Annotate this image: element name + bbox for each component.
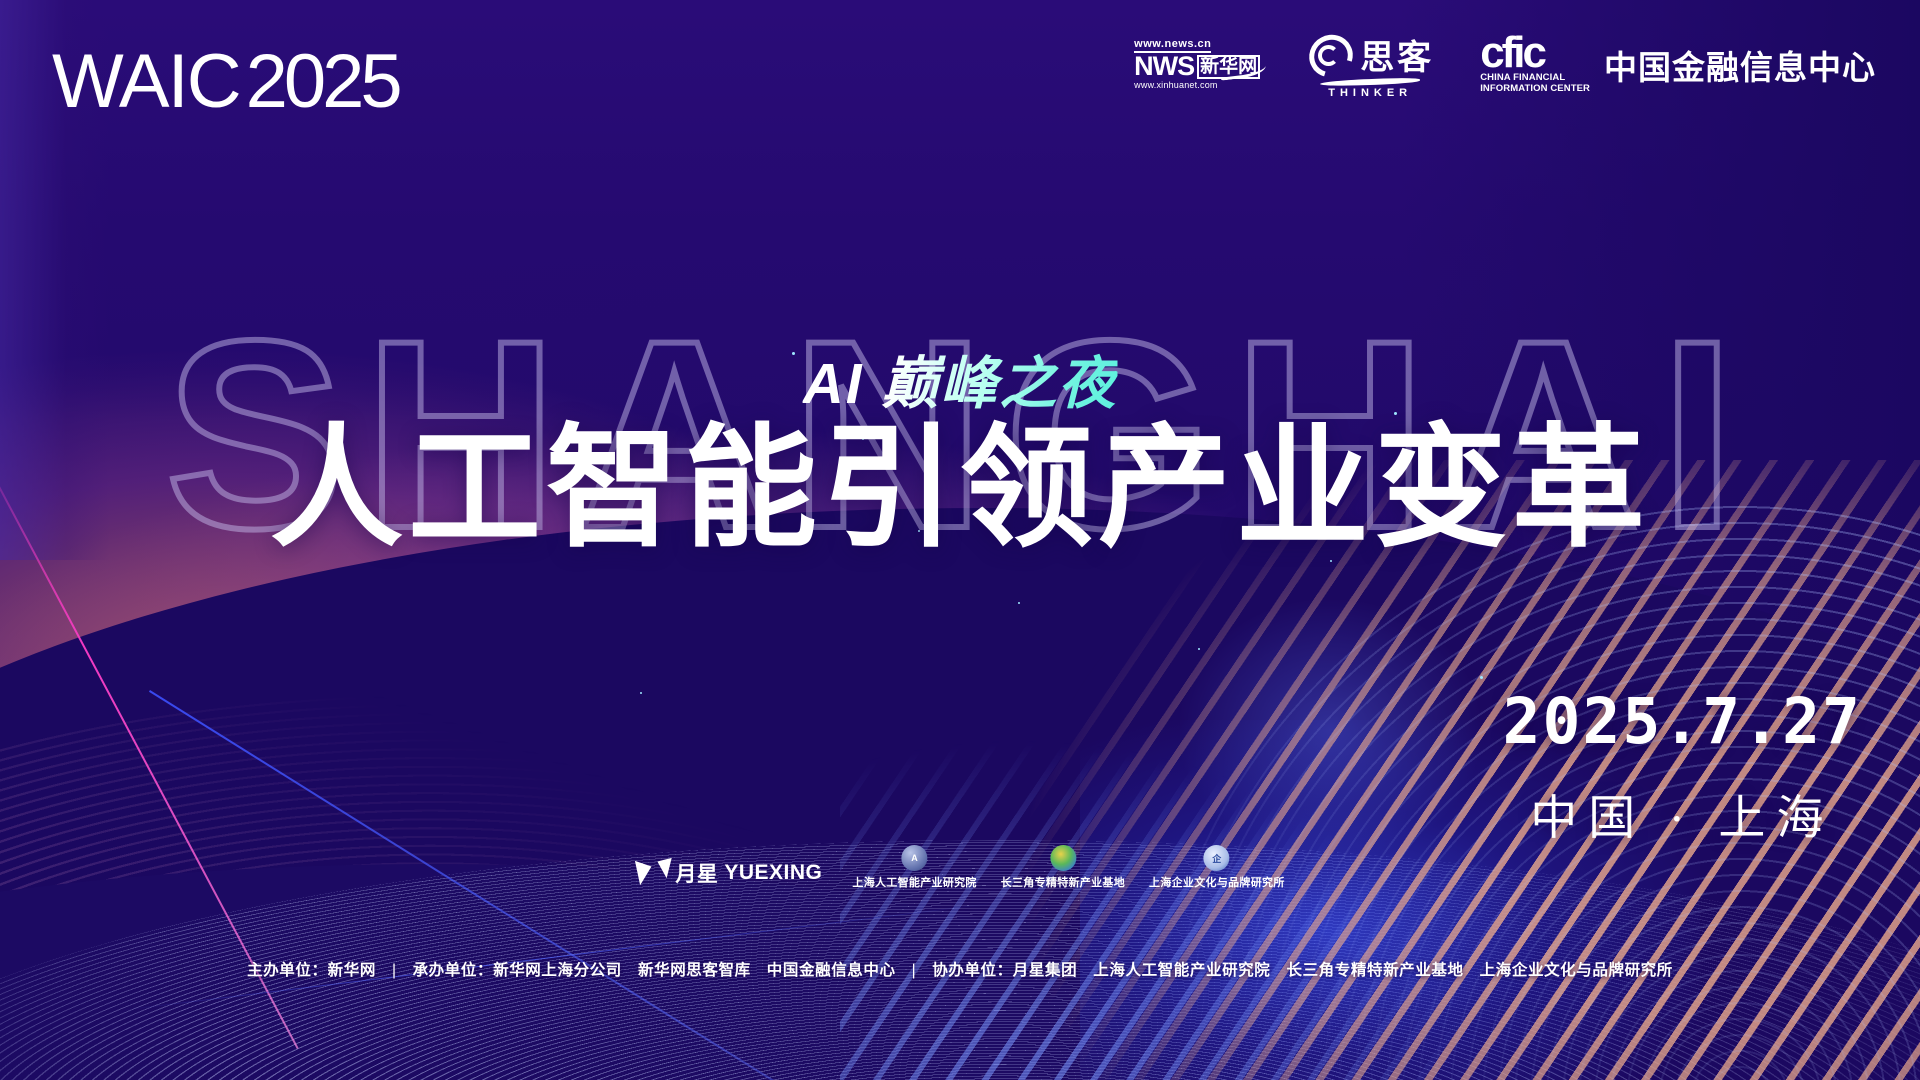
event-date: 2025.7.27 bbox=[1503, 690, 1862, 753]
cfic-logo: cfic CHINA FINANCIAL INFORMATION CENTER … bbox=[1480, 34, 1876, 95]
sponsor-logo-row: 月星YUEXING A 上海人工智能产业研究院 长三角专精特新产业基地 企 上海… bbox=[635, 845, 1284, 890]
partner-logo-strip: www.news.cn NWS 新华网 www.xinhuanet.com 思客… bbox=[1134, 30, 1876, 99]
xinhuanet-logo: www.news.cn NWS 新华网 www.xinhuanet.com bbox=[1134, 39, 1260, 90]
footer-divider-1: | bbox=[392, 962, 397, 979]
sparkle-dot bbox=[1480, 676, 1483, 679]
saiia-globe-icon: A bbox=[902, 845, 928, 871]
sponsor-logo-yuexing: 月星YUEXING bbox=[635, 856, 822, 890]
yuexing-brand-cn: 月星 bbox=[675, 858, 718, 888]
sponsor-logo-csj-base: 长三角专精特新产业基地 bbox=[1001, 845, 1125, 890]
xinhuanet-mark-en: NWS bbox=[1134, 55, 1194, 77]
yuexing-star-icon bbox=[635, 856, 669, 890]
footer-divider-2: | bbox=[912, 962, 917, 979]
footer-host-value: 新华网 bbox=[328, 962, 376, 979]
footer-credits: 主办单位：新华网|承办单位：新华网上海分公司 新华网思客智库 中国金融信息中心|… bbox=[0, 958, 1920, 980]
footer-coorganizer-label: 协办单位： bbox=[932, 962, 1013, 979]
sparkle-dot bbox=[1018, 602, 1020, 604]
poster-canvas: SHANGHAI WAIC2025 www.news.cn NWS 新华网 ww… bbox=[0, 0, 1920, 1080]
yuexing-brand-en: YUEXING bbox=[724, 861, 822, 885]
cfic-letters: cfic bbox=[1480, 34, 1590, 73]
thinker-spiral-icon bbox=[1306, 35, 1350, 75]
event-location: 中国 · 上海 bbox=[1503, 779, 1862, 848]
sponsor-logo-saiia: A 上海人工智能产业研究院 bbox=[852, 845, 976, 890]
footer-organizer-values: 新华网上海分公司 新华网思客智库 中国金融信息中心 bbox=[493, 962, 896, 979]
waic-logo-year: 2025 bbox=[246, 38, 399, 125]
thinker-logo: 思客 THINKER bbox=[1306, 30, 1434, 99]
footer-coorganizer-values: 月星集团 上海人工智能产业研究院 长三角专精特新产业基地 上海企业文化与品牌研究… bbox=[1013, 962, 1673, 979]
event-date-location: 2025.7.27 中国 · 上海 bbox=[1503, 690, 1862, 848]
cc-institute-seal-icon: 企 bbox=[1204, 845, 1230, 871]
thinker-name-cn: 思客 bbox=[1360, 30, 1434, 79]
event-main-title: 人工智能引领产业变革 bbox=[270, 418, 1650, 562]
xinhuanet-url-bottom: www.xinhuanet.com bbox=[1134, 81, 1217, 90]
sponsor-logo-cc-institute: 企 上海企业文化与品牌研究所 bbox=[1149, 845, 1285, 890]
thinker-name-en: THINKER bbox=[1328, 87, 1412, 99]
cfic-name-cn: 中国金融信息中心 bbox=[1604, 41, 1876, 89]
sparkle-dot bbox=[640, 692, 642, 694]
cc-institute-name: 上海企业文化与品牌研究所 bbox=[1149, 874, 1285, 890]
footer-organizer-label: 承办单位： bbox=[413, 962, 494, 979]
waic-logo-word: WAIC bbox=[52, 38, 240, 125]
csj-base-map-icon bbox=[1050, 845, 1076, 871]
event-subtitle: AI 巅峰之夜 bbox=[803, 338, 1118, 420]
footer-host-label: 主办单位： bbox=[247, 962, 328, 979]
cfic-sub-line-2: INFORMATION CENTER bbox=[1480, 84, 1590, 95]
csj-base-name: 长三角专精特新产业基地 bbox=[1001, 874, 1125, 890]
waic-logo: WAIC2025 bbox=[52, 38, 399, 125]
sparkle-dot bbox=[1198, 648, 1200, 650]
saiia-name: 上海人工智能产业研究院 bbox=[852, 874, 976, 890]
